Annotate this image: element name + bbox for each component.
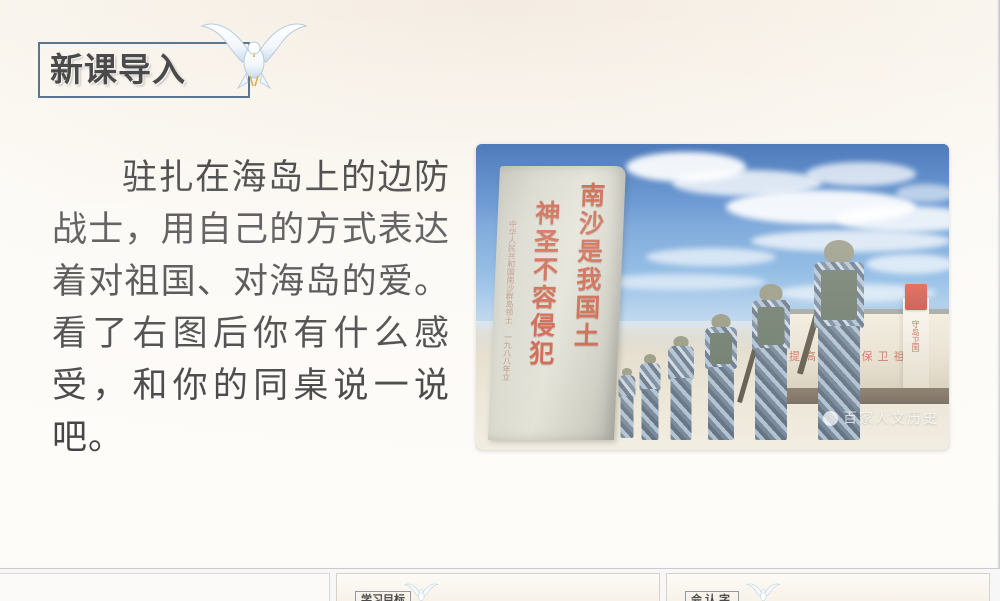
slide-thumbnail-strip[interactable]: 学习目标 会认字: [0, 568, 1000, 601]
slide-canvas: 新课导入 驻扎在海岛上的边防战士，用自己的方式表达着对祖国、对海岛的爱。看了右图…: [0, 0, 1000, 568]
monument-side-inscription: 中华人民共和国南沙群岛领土 一九八八年立: [501, 220, 519, 381]
soldier-figure: [636, 354, 664, 440]
monument-right-column: 南沙是我国土: [564, 182, 611, 350]
monument-left-column: 神圣不容侵犯: [519, 200, 566, 368]
watermark-label: 百家人文历史: [843, 408, 939, 428]
photo-watermark: 百家人文历史: [823, 408, 939, 428]
soldier-figure: [616, 368, 638, 440]
slide-thumbnail-previous[interactable]: [0, 573, 330, 601]
slide-thumbnail-characters-to-recognize[interactable]: 会认字: [666, 573, 990, 601]
slide-thumbnail-learning-objectives[interactable]: 学习目标: [336, 573, 660, 601]
section-title-group: 新课导入: [38, 42, 250, 98]
nansha-stone-monument: 中华人民共和国南沙群岛领土 一九八八年立 神圣不容侵犯 南沙是我国土: [488, 166, 626, 440]
lesson-body-text: 驻扎在海岛上的边防战士，用自己的方式表达着对祖国、对海岛的爱。看了右图后你有什么…: [52, 152, 450, 464]
dove-icon: [403, 582, 439, 601]
soldier-figure: [664, 336, 698, 440]
soldier-figure: [700, 314, 742, 440]
dove-icon: [198, 18, 308, 94]
nansha-border-guards-photo: 提高警惕 保卫祖国 守岛卫国 中华人民共和国南沙群岛领土 一九八: [476, 144, 949, 450]
dove-icon: [745, 582, 781, 601]
soldier-figure: [746, 284, 796, 440]
red-flag-icon: [905, 284, 927, 310]
building-pillar: 守岛卫国: [903, 298, 929, 388]
wechat-icon: [823, 411, 838, 426]
building-pillar-text: 守岛卫国: [910, 320, 920, 352]
